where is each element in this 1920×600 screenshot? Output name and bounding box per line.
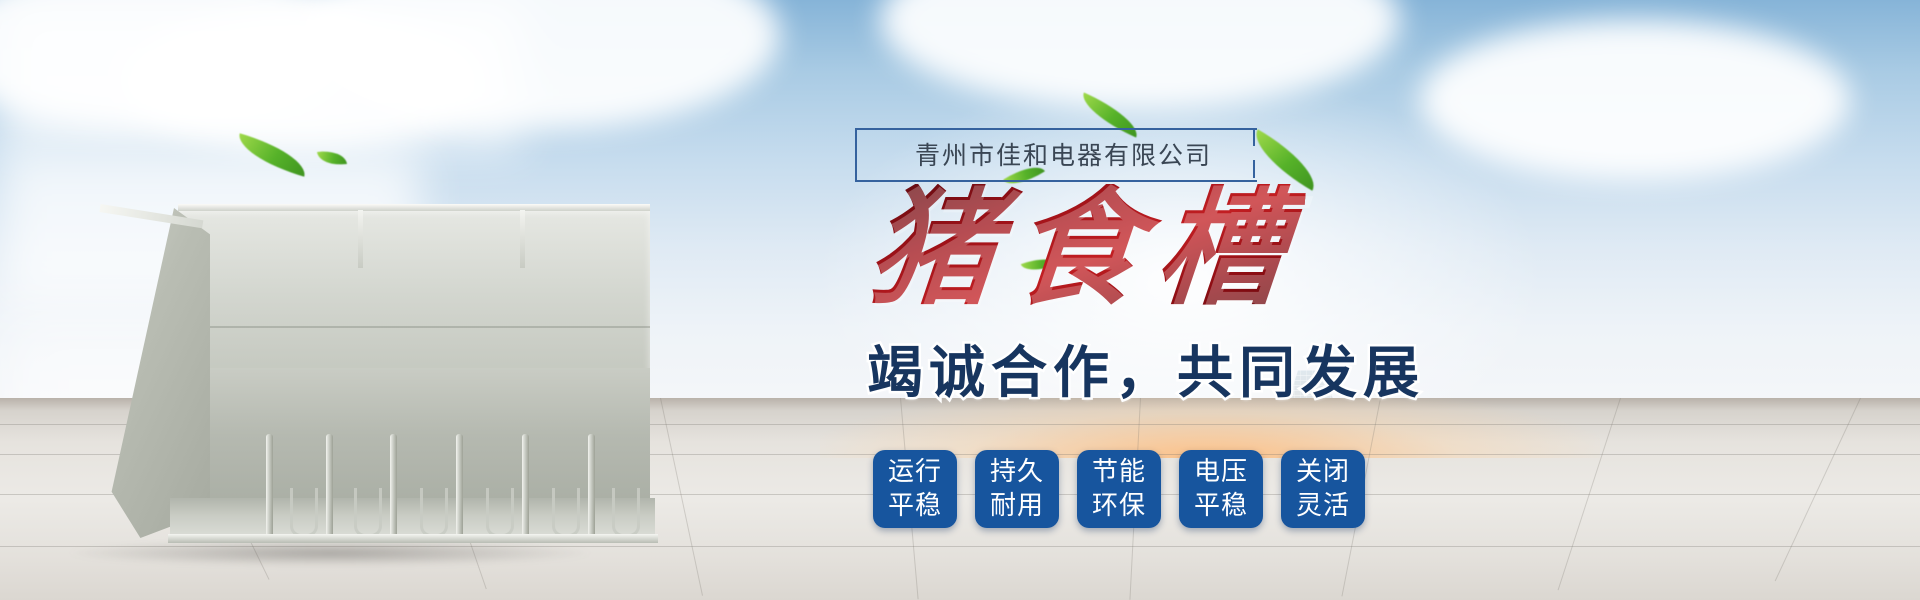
trough-upper-bar <box>358 210 363 268</box>
trough-divider <box>456 434 463 538</box>
trough-divider <box>390 434 397 538</box>
cloud-shape <box>880 0 1400 110</box>
trough-seam <box>180 326 650 328</box>
page-title: 猪食槽 <box>863 184 1306 312</box>
badge-line-2: 平稳 <box>1194 489 1248 523</box>
badge-line-1: 关闭 <box>1296 455 1350 489</box>
promo-banner: 青州市佳和电器有限公司 猪食槽 竭诚合作，共同发展 运行 平稳 持久 耐用 节能… <box>0 0 1920 600</box>
badge-line-2: 环保 <box>1092 489 1146 523</box>
trough-divider <box>522 434 529 538</box>
trough-left-side-panel <box>90 208 210 538</box>
trough-top-rim <box>178 204 650 211</box>
company-name: 青州市佳和电器有限公司 <box>915 136 1335 172</box>
trough-upper-bar <box>520 210 525 268</box>
trough-divider <box>326 434 333 538</box>
badge-line-1: 持久 <box>990 455 1044 489</box>
trough-divider <box>588 434 595 538</box>
feature-badge[interactable]: 节能 环保 <box>1077 450 1161 528</box>
product-image-pig-feeding-trough <box>90 198 650 568</box>
trough-wire-loop <box>354 488 382 537</box>
badge-line-1: 运行 <box>888 455 942 489</box>
feature-badge[interactable]: 关闭 灵活 <box>1281 450 1365 528</box>
trough-divider <box>266 434 273 538</box>
trough-wire-loop <box>486 488 514 537</box>
subtitle-slogan: 竭诚合作，共同发展 <box>867 346 1425 402</box>
feature-badge[interactable]: 运行 平稳 <box>873 450 957 528</box>
trough-wire-loop <box>420 488 448 537</box>
horizon-glow <box>820 398 1600 458</box>
badge-line-2: 平稳 <box>888 489 942 523</box>
badge-line-1: 节能 <box>1092 455 1146 489</box>
cloud-shape <box>1420 20 1850 180</box>
feature-badge[interactable]: 持久 耐用 <box>975 450 1059 528</box>
trough-wire-loop <box>290 488 318 537</box>
feature-badge[interactable]: 电压 平稳 <box>1179 450 1263 528</box>
trough-front-bar <box>168 534 658 543</box>
trough-wire-loop <box>552 488 580 537</box>
badge-line-1: 电压 <box>1194 455 1248 489</box>
trough-wire-loop <box>612 488 640 537</box>
badge-line-2: 耐用 <box>990 489 1044 523</box>
badge-line-2: 灵活 <box>1296 489 1350 523</box>
feature-badge-list: 运行 平稳 持久 耐用 节能 环保 电压 平稳 关闭 灵活 <box>873 450 1365 528</box>
